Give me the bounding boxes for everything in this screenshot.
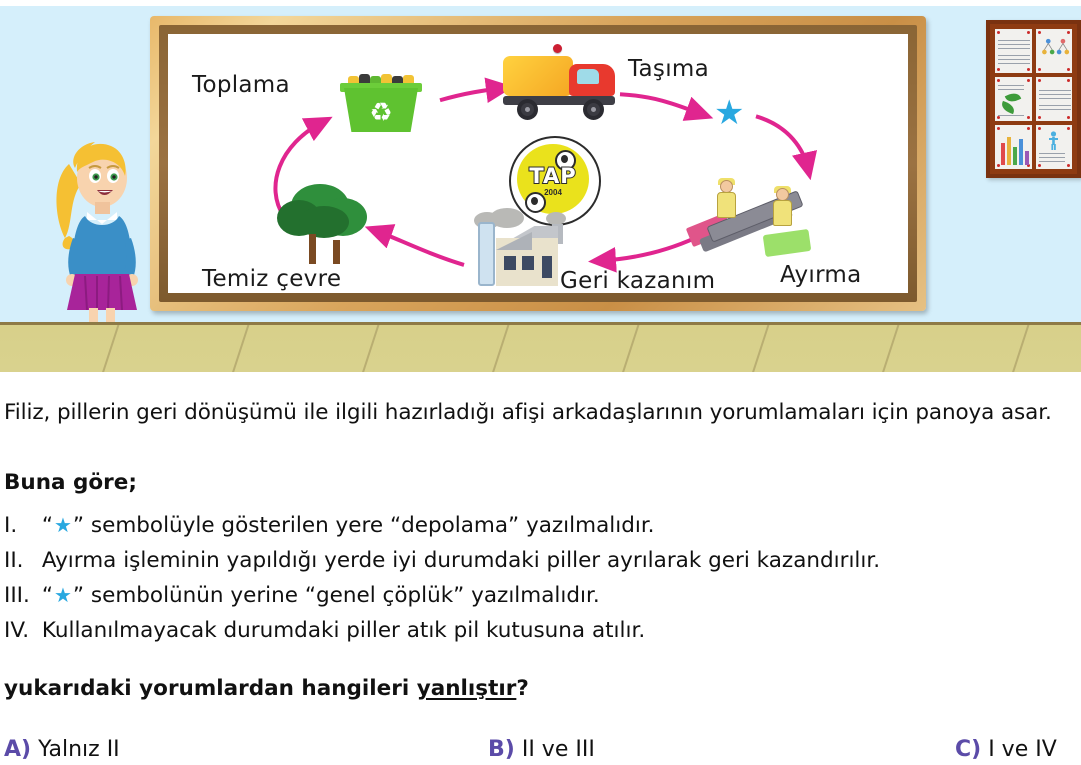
floor	[0, 322, 1081, 372]
board-paper-music-sheet	[995, 29, 1032, 73]
poster-label-temiz-cevre: Temiz çevre	[202, 266, 341, 292]
question-prompt: yukarıdaki yorumlardan hangileri yanlışt…	[4, 676, 529, 701]
recycling-bin-icon: ♻	[338, 74, 424, 132]
poster-label-toplama: Toplama	[192, 72, 290, 98]
star-icon: ★	[53, 583, 73, 607]
board-paper-figure	[1036, 125, 1073, 169]
statement-text: Kullanılmayacak durumdaki piller atık pi…	[35, 613, 645, 648]
statement-item: III. “★” sembolünün yerine “genel çöplük…	[4, 578, 1076, 613]
answer-options: A) Yalnız II B) II ve III C) I ve IV	[0, 737, 1081, 765]
star-icon: ★	[714, 96, 744, 130]
board-paper-music-sheet-2	[1036, 77, 1073, 121]
poster-frame: ♻ ★ TA	[150, 16, 926, 311]
poster-label-ayirma: Ayırma	[780, 262, 862, 288]
option-c[interactable]: C) I ve IV	[955, 737, 1057, 762]
prompt-after: ?	[516, 676, 528, 701]
board-paper-leaves	[995, 77, 1032, 121]
statement-item: I. “★” sembolüyle gösterilen yere “depol…	[4, 508, 1076, 543]
option-a[interactable]: A) Yalnız II	[4, 737, 120, 762]
option-a-letter: A)	[4, 737, 31, 762]
prompt-underlined: yanlıştır	[417, 676, 517, 701]
recycle-symbol-icon: ♻	[366, 98, 396, 126]
option-c-text: I ve IV	[988, 737, 1057, 762]
statement-number: II.	[4, 543, 35, 578]
statement-list: I. “★” sembolüyle gösterilen yere “depol…	[4, 508, 1076, 648]
statement-text: Ayırma işleminin yapıldığı yerde iyi dur…	[35, 543, 880, 578]
statement-number: III.	[4, 578, 35, 613]
tap-logo-text: TAP	[523, 164, 583, 188]
statement-item: II. Ayırma işleminin yapıldığı yerde iyi…	[4, 543, 1076, 578]
question-lead-in: Buna göre;	[4, 470, 137, 495]
star-icon: ★	[53, 513, 73, 537]
option-b[interactable]: B) II ve III	[488, 737, 595, 762]
wall-top-strip	[0, 0, 1081, 6]
prompt-before: yukarıdaki yorumlardan hangileri	[4, 676, 417, 701]
sorting-conveyor-icon	[688, 174, 823, 266]
statement-text: “★” sembolüyle gösterilen yere “depolama…	[35, 508, 655, 543]
bulletin-board	[986, 20, 1081, 178]
board-paper-diagram	[1036, 29, 1073, 73]
poster-label-tasima: Taşıma	[628, 56, 709, 82]
tree-icon	[273, 182, 383, 264]
option-b-letter: B)	[488, 737, 515, 762]
statement-item: IV. Kullanılmayacak durumdaki piller atı…	[4, 613, 1076, 648]
question-content: Filiz, pillerin geri dönüşümü ile ilgili…	[0, 372, 1081, 765]
question-intro: Filiz, pillerin geri dönüşümü ile ilgili…	[4, 395, 1076, 431]
option-c-letter: C)	[955, 737, 981, 762]
tap-logo-year: 2004	[523, 188, 583, 197]
option-b-text: II ve III	[522, 737, 595, 762]
statement-number: IV.	[4, 613, 35, 648]
lead-in-text: Buna göre;	[4, 470, 137, 495]
board-paper-bar-chart	[995, 125, 1032, 169]
option-a-text: Yalnız II	[38, 737, 120, 762]
statement-text: “★” sembolünün yerine “genel çöplük” yaz…	[35, 578, 600, 613]
poster-frame-inner-border: ♻ ★ TA	[159, 25, 917, 302]
poster-label-geri-kazanim: Geri kazanım	[560, 268, 715, 293]
statement-number: I.	[4, 508, 35, 543]
delivery-truck-icon	[503, 50, 621, 122]
recycling-poster: ♻ ★ TA	[168, 34, 908, 293]
classroom-scene: ♻ ★ TA	[0, 0, 1081, 372]
